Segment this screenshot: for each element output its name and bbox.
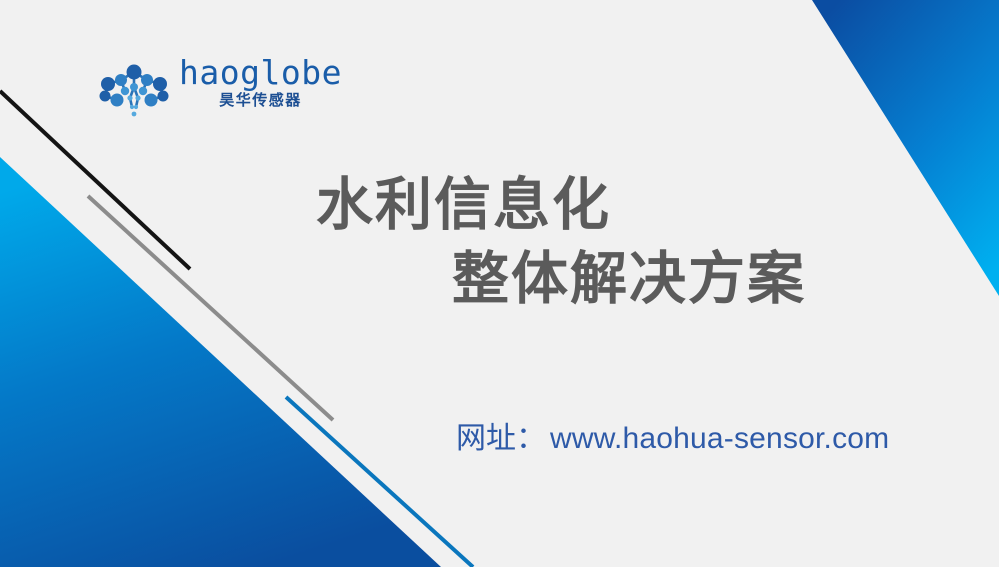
website-url[interactable]: www.haohua-sensor.com [550, 421, 889, 457]
page-title-line-2: 整体解决方案 [316, 242, 936, 316]
logo-wordmark: haoglobe [179, 56, 342, 90]
haoglobe-network-nodes-logo-icon [97, 60, 171, 118]
page-title: 水利信息化 整体解决方案 [316, 168, 936, 316]
gray-diagonal-line [88, 196, 333, 420]
page-title-line-1: 水利信息化 [316, 168, 936, 242]
logo-text-group: haoglobe 昊华传感器 [179, 56, 342, 109]
company-logo: haoglobe 昊华传感器 [97, 56, 342, 118]
presentation-title-slide: haoglobe 昊华传感器 水利信息化 整体解决方案 网址： www.haoh… [0, 0, 999, 567]
website-line: 网址： www.haohua-sensor.com [456, 421, 889, 457]
blue-diagonal-line [286, 397, 473, 567]
website-label: 网址： [456, 421, 546, 457]
logo-subtitle-chinese: 昊华传感器 [219, 92, 302, 109]
